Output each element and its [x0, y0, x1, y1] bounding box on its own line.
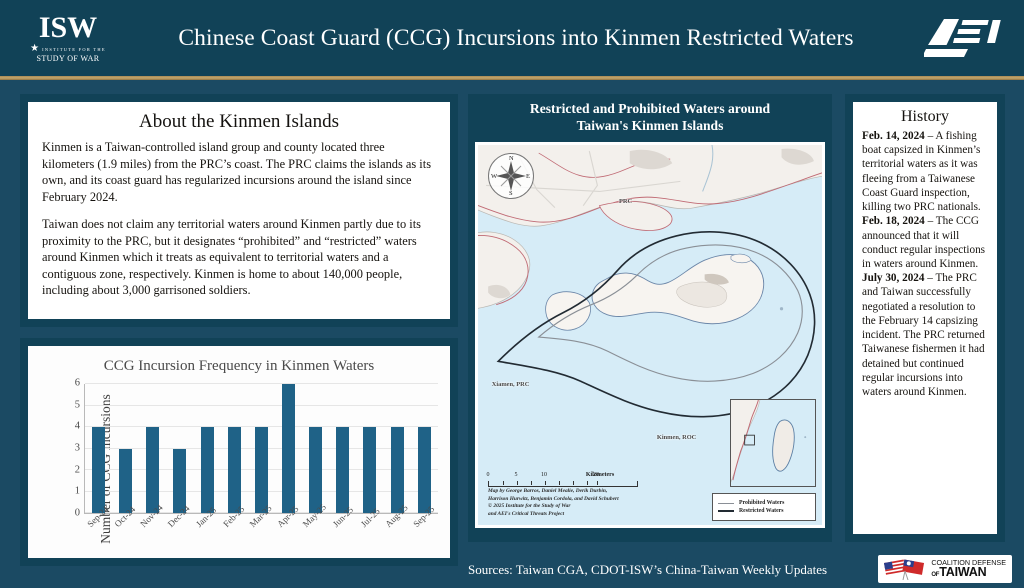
chart-bar [282, 384, 295, 513]
chart-y-tick: 5 [75, 399, 80, 410]
chart-bars [85, 384, 438, 513]
islet-2 [780, 307, 783, 310]
map-scale-line [488, 481, 638, 487]
compass-south-label: S [509, 190, 513, 197]
history-entry-date: July 30, 2024 [862, 272, 924, 284]
chart-bar-column [92, 384, 105, 513]
map-label-xiamen: Xiamen, PRC [492, 381, 530, 388]
chart-x-tick: May-25 [309, 520, 322, 558]
chart-bar [119, 449, 132, 514]
aei-logo [918, 15, 1010, 61]
aei-logo-icon [924, 15, 1010, 61]
history-entry-text: – A fishing boat capsized in Kinmen’s te… [862, 130, 981, 213]
chart-x-tick: Apr-25 [282, 520, 295, 558]
chart-x-tick: Jan-25 [200, 520, 213, 558]
chart-x-tick: Sep-25 [418, 520, 431, 558]
about-body: Kinmen is a Taiwan-controlled island gro… [28, 137, 450, 299]
isw-tagline-2: STUDY OF WAR [36, 54, 99, 63]
chart-y-tick: 2 [75, 464, 80, 475]
legend-row-prohibited: Prohibited Waters [718, 500, 810, 506]
chart-title: CCG Incursion Frequency in Kinmen Waters [28, 346, 450, 375]
map-canvas-wrap: PRC Xiamen, PRC Kinmen, ROC [475, 142, 825, 528]
chart-bar-column [228, 384, 241, 513]
inset-locator-map [730, 399, 816, 487]
chart-bar-column [119, 384, 132, 513]
about-card: About the Kinmen Islands Kinmen is a Tai… [28, 102, 450, 319]
flags-icon [884, 558, 926, 580]
chart-x-tick: Dec-24 [173, 520, 186, 558]
about-paragraph-2: Taiwan does not claim any territorial wa… [42, 216, 436, 299]
cdot-logo: COALITION DEFENSE OFTAIWAN [878, 555, 1012, 583]
history-card: History Feb. 14, 2024 – A fishing boat c… [853, 102, 997, 534]
scale-unit-label: Kilometers [586, 472, 614, 478]
map-title-line-1: Restricted and Prohibited Waters around [530, 101, 770, 118]
chart-bar [309, 427, 322, 513]
attribution-line-1: Map by George Barros, Daniel Mealie, Der… [488, 488, 698, 496]
chart-x-tick: Oct-24 [118, 520, 131, 558]
about-panel: About the Kinmen Islands Kinmen is a Tai… [20, 94, 458, 327]
chart-bar [228, 427, 241, 513]
body-area: About the Kinmen Islands Kinmen is a Tai… [0, 80, 1024, 588]
chart-x-axis-labels: Sep-24Oct-24Nov-24Dec-24Jan-25Feb-25Mar-… [84, 520, 438, 558]
chart-x-tick: Aug-25 [391, 520, 404, 558]
chart-bar [363, 427, 376, 513]
chart-bar-column [391, 384, 404, 513]
page-header: ISW ★ INSTITUTE FOR THE STUDY OF WAR Chi… [0, 0, 1024, 76]
legend-swatch-restricted [718, 510, 734, 512]
history-entry-date: Feb. 14, 2024 [862, 130, 925, 142]
legend-label-prohibited: Prohibited Waters [739, 500, 784, 506]
isw-tagline-1: INSTITUTE FOR THE [42, 47, 106, 52]
compass-north-label: N [509, 155, 514, 162]
history-entry: Feb. 14, 2024 – A fishing boat capsized … [862, 130, 981, 213]
star-icon: ★ [30, 44, 39, 54]
compass-rose-icon: N E S W [488, 153, 534, 199]
page-footer: Sources: Taiwan CGA, CDOT-ISW’s China-Ta… [468, 552, 1024, 588]
chart-bar [146, 427, 159, 513]
chart-bar [255, 427, 268, 513]
map-label-prc: PRC [619, 198, 632, 205]
compass-east-label: E [526, 173, 530, 180]
chart-panel: CCG Incursion Frequency in Kinmen Waters… [20, 338, 458, 566]
history-entry: July 30, 2024 – The PRC and Taiwan succe… [862, 272, 985, 398]
chart-bar [391, 427, 404, 513]
chart-plot: 0123456 [84, 384, 438, 514]
chart-bar-column [255, 384, 268, 513]
chart-y-tick: 1 [75, 486, 80, 497]
chart-bar-column [309, 384, 322, 513]
attribution-line-3: © 2025 Institute for the Study of War [488, 503, 698, 511]
isw-logo: ISW ★ INSTITUTE FOR THE STUDY OF WAR [14, 13, 122, 63]
chart-x-tick: Jun-25 [336, 520, 349, 558]
map-title-line-2: Taiwan's Kinmen Islands [530, 118, 770, 135]
about-paragraph-1: Kinmen is a Taiwan-controlled island gro… [42, 139, 436, 205]
chart-x-tick: Feb-25 [227, 520, 240, 558]
cdot-taiwan: TAIWAN [939, 565, 986, 579]
sources-text: Sources: Taiwan CGA, CDOT-ISW’s China-Ta… [468, 562, 827, 578]
inset-geometry [731, 400, 815, 486]
map-panel: Restricted and Prohibited Waters around … [468, 94, 832, 542]
chart-plot-area: Number of CCG Incursions 0123456 Sep-24O… [28, 380, 444, 558]
cdot-line-2: OFTAIWAN [931, 566, 1006, 579]
isw-star-row: ★ INSTITUTE FOR THE [30, 44, 106, 54]
chart-y-tick: 3 [75, 443, 80, 454]
map-label-kinmen: Kinmen, ROC [657, 434, 696, 441]
chart-y-tick: 6 [75, 378, 80, 389]
chart-x-tick: Jul-25 [363, 520, 376, 558]
poster-root: ISW ★ INSTITUTE FOR THE STUDY OF WAR Chi… [0, 0, 1024, 588]
chart-bar-column [201, 384, 214, 513]
cdot-wordmark: COALITION DEFENSE OFTAIWAN [931, 559, 1006, 579]
legend-swatch-prohibited [718, 503, 734, 504]
chart-bar-column [336, 384, 349, 513]
about-title: About the Kinmen Islands [28, 102, 450, 137]
map-attribution: Map by George Barros, Daniel Mealie, Der… [488, 488, 698, 519]
scale-tick-10: 10 [541, 472, 547, 478]
chart-y-tick: 4 [75, 421, 80, 432]
scale-tick-5: 5 [515, 472, 518, 478]
islet-1 [731, 254, 751, 263]
isw-wordmark: ISW [39, 13, 97, 43]
history-title: History [853, 102, 997, 129]
chart-bar-column [146, 384, 159, 513]
map-scale-ticks [489, 481, 637, 487]
history-body: Feb. 14, 2024 – A fishing boat capsized … [853, 129, 997, 399]
page-title: Chinese Coast Guard (CCG) Incursions int… [122, 25, 918, 52]
map-canvas[interactable]: PRC Xiamen, PRC Kinmen, ROC [478, 145, 822, 525]
chart-x-tick: Nov-24 [146, 520, 159, 558]
chart-bar-column [363, 384, 376, 513]
compass-west-label: W [491, 173, 497, 180]
history-entry-date: Feb. 18, 2024 [862, 215, 925, 227]
chart-card: CCG Incursion Frequency in Kinmen Waters… [28, 346, 450, 558]
chart-x-tick: Sep-24 [91, 520, 104, 558]
history-entry: Feb. 18, 2024 – The CCG announced that i… [862, 215, 985, 270]
legend-row-restricted: Restricted Waters [718, 508, 810, 514]
map-scale-numbers: 0 5 10 20 Kilometers [488, 472, 638, 481]
chart-bar-column [282, 384, 295, 513]
attribution-line-4: and AEI's Critical Threats Project [488, 511, 698, 519]
history-entry-text: – The PRC and Taiwan successfully negoti… [862, 272, 985, 398]
inset-islet [804, 436, 806, 438]
scale-tick-0: 0 [487, 472, 490, 478]
history-panel: History Feb. 14, 2024 – A fishing boat c… [845, 94, 1005, 542]
legend-label-restricted: Restricted Waters [739, 508, 783, 514]
chart-bar-column [173, 384, 186, 513]
map-legend: Prohibited Waters Restricted Waters [712, 493, 816, 521]
chart-bar-column [418, 384, 431, 513]
chart-bar [201, 427, 214, 513]
map-title: Restricted and Prohibited Waters around … [468, 94, 832, 142]
chart-y-tick: 0 [75, 508, 80, 519]
chart-bar [92, 427, 105, 513]
map-scale-bar: 0 5 10 20 Kilometers [488, 472, 638, 487]
chart-bar [336, 427, 349, 513]
chart-bar [418, 427, 431, 513]
chart-x-tick: Mar-25 [254, 520, 267, 558]
